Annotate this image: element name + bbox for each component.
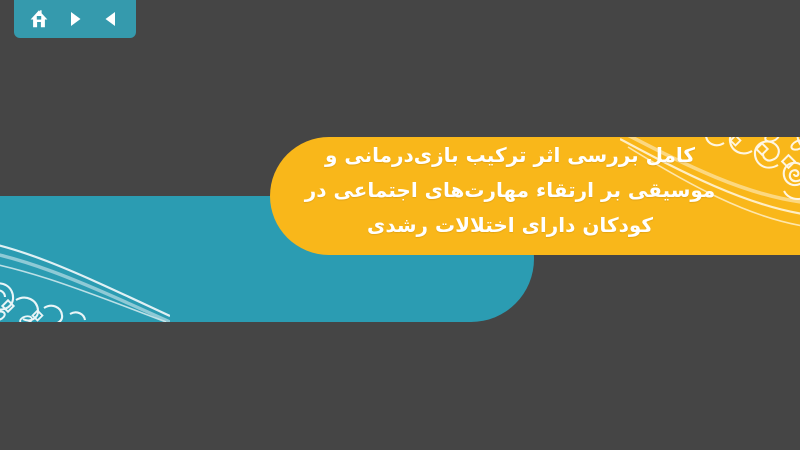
arabesque-corner-ornament [0, 196, 170, 322]
slide-canvas: کامل بررسی اثر ترکیب بازی‌درمانی و موسیق… [0, 0, 800, 450]
back-button[interactable] [96, 6, 126, 32]
orange-band [270, 137, 800, 255]
home-icon [29, 9, 49, 29]
forward-button[interactable] [60, 6, 90, 32]
arabesque-corner-ornament [620, 137, 800, 255]
home-button[interactable] [24, 6, 54, 32]
navigation-bar [14, 0, 136, 38]
triangle-left-icon [102, 10, 120, 28]
triangle-right-icon [66, 10, 84, 28]
